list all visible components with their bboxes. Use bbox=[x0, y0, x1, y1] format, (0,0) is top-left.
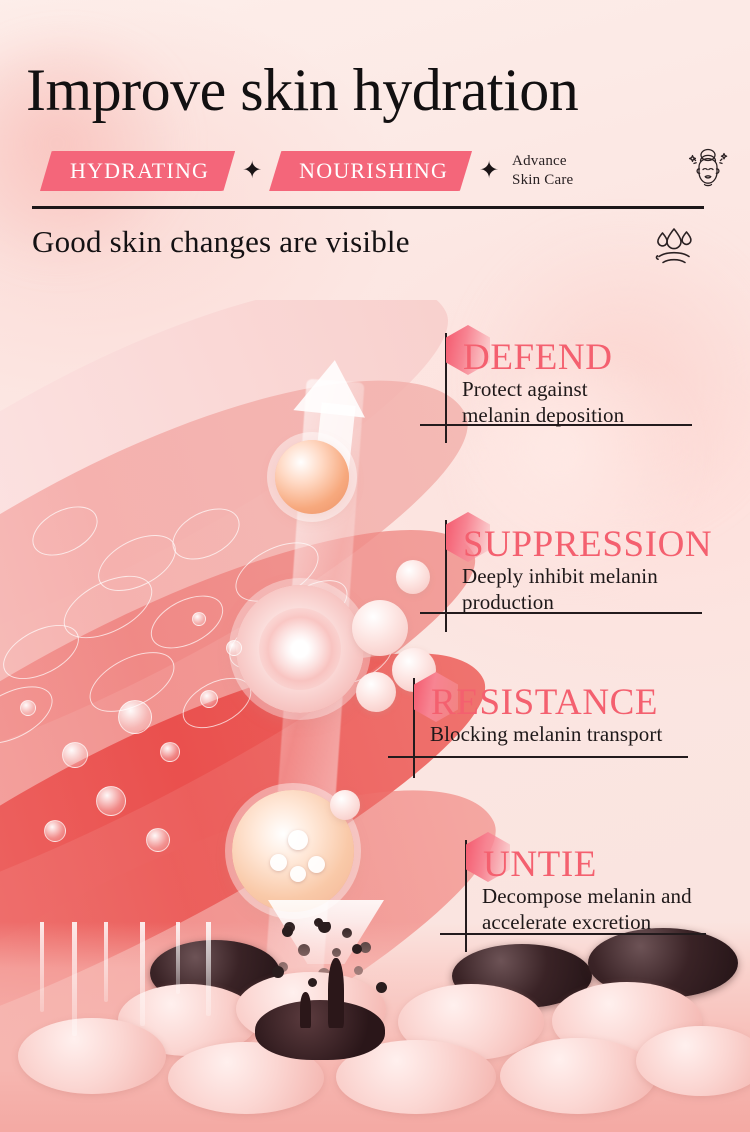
header-divider bbox=[32, 206, 704, 209]
feature-description-line-1: Blocking melanin transport bbox=[430, 722, 662, 748]
poster-canvas: Improve skin hydration HYDRATING ✦ NOURI… bbox=[0, 0, 750, 1132]
feature-description: Protect against melanin deposition bbox=[462, 377, 624, 428]
feature-description-line-2: melanin deposition bbox=[462, 403, 624, 429]
brand-line-2: Skin Care bbox=[512, 171, 573, 190]
badge-hydrating[interactable]: HYDRATING bbox=[40, 151, 235, 191]
feature-item-untie: UNTIE Decompose melanin and accelerate e… bbox=[440, 832, 730, 942]
upward-arrow-icon bbox=[293, 356, 370, 417]
feature-title: UNTIE bbox=[483, 846, 597, 883]
feature-item-resistance: RESISTANCE Blocking melanin transport bbox=[388, 672, 698, 768]
feature-description-line-1: Deeply inhibit melanin bbox=[462, 564, 658, 590]
feature-description-line-2: accelerate excretion bbox=[482, 910, 692, 936]
sparkle-icon: ✦ bbox=[235, 159, 269, 183]
feature-title: RESISTANCE bbox=[431, 684, 658, 721]
pearl-bead bbox=[330, 790, 360, 820]
water-drop-icon bbox=[650, 224, 698, 270]
page-subheadline: Good skin changes are visible bbox=[32, 224, 410, 260]
feature-horizontal-line bbox=[388, 756, 688, 758]
pearl-bead bbox=[352, 600, 408, 656]
badge-nourishing[interactable]: NOURISHING bbox=[269, 151, 472, 191]
feature-title: DEFEND bbox=[463, 339, 613, 376]
brand-line-1: Advance bbox=[512, 152, 573, 171]
feature-title: SUPPRESSION bbox=[463, 526, 712, 563]
woman-face-icon bbox=[682, 145, 734, 197]
badge-row: HYDRATING ✦ NOURISHING ✦ Advance Skin Ca… bbox=[40, 145, 740, 197]
skin-cell-pebble-field bbox=[0, 922, 750, 1132]
feature-description-line-1: Decompose melanin and bbox=[482, 884, 692, 910]
molecule-cluster bbox=[270, 830, 330, 885]
feature-description-line-1: Protect against bbox=[462, 377, 624, 403]
page-headline: Improve skin hydration bbox=[26, 60, 736, 120]
feature-description-line-2: production bbox=[462, 590, 658, 616]
serum-droplet-top bbox=[275, 440, 349, 514]
serum-droplet-middle bbox=[236, 585, 364, 713]
feature-item-defend: DEFEND Protect against melanin depositio… bbox=[420, 325, 720, 435]
brand-tagline: Advance Skin Care bbox=[512, 152, 573, 190]
feature-item-suppression: SUPPRESSION Deeply inhibit melanin produ… bbox=[420, 512, 720, 622]
feature-description: Deeply inhibit melanin production bbox=[462, 564, 658, 615]
feature-description: Decompose melanin and accelerate excreti… bbox=[482, 884, 692, 935]
sparkle-icon: ✦ bbox=[472, 159, 506, 183]
feature-description: Blocking melanin transport bbox=[430, 722, 662, 748]
